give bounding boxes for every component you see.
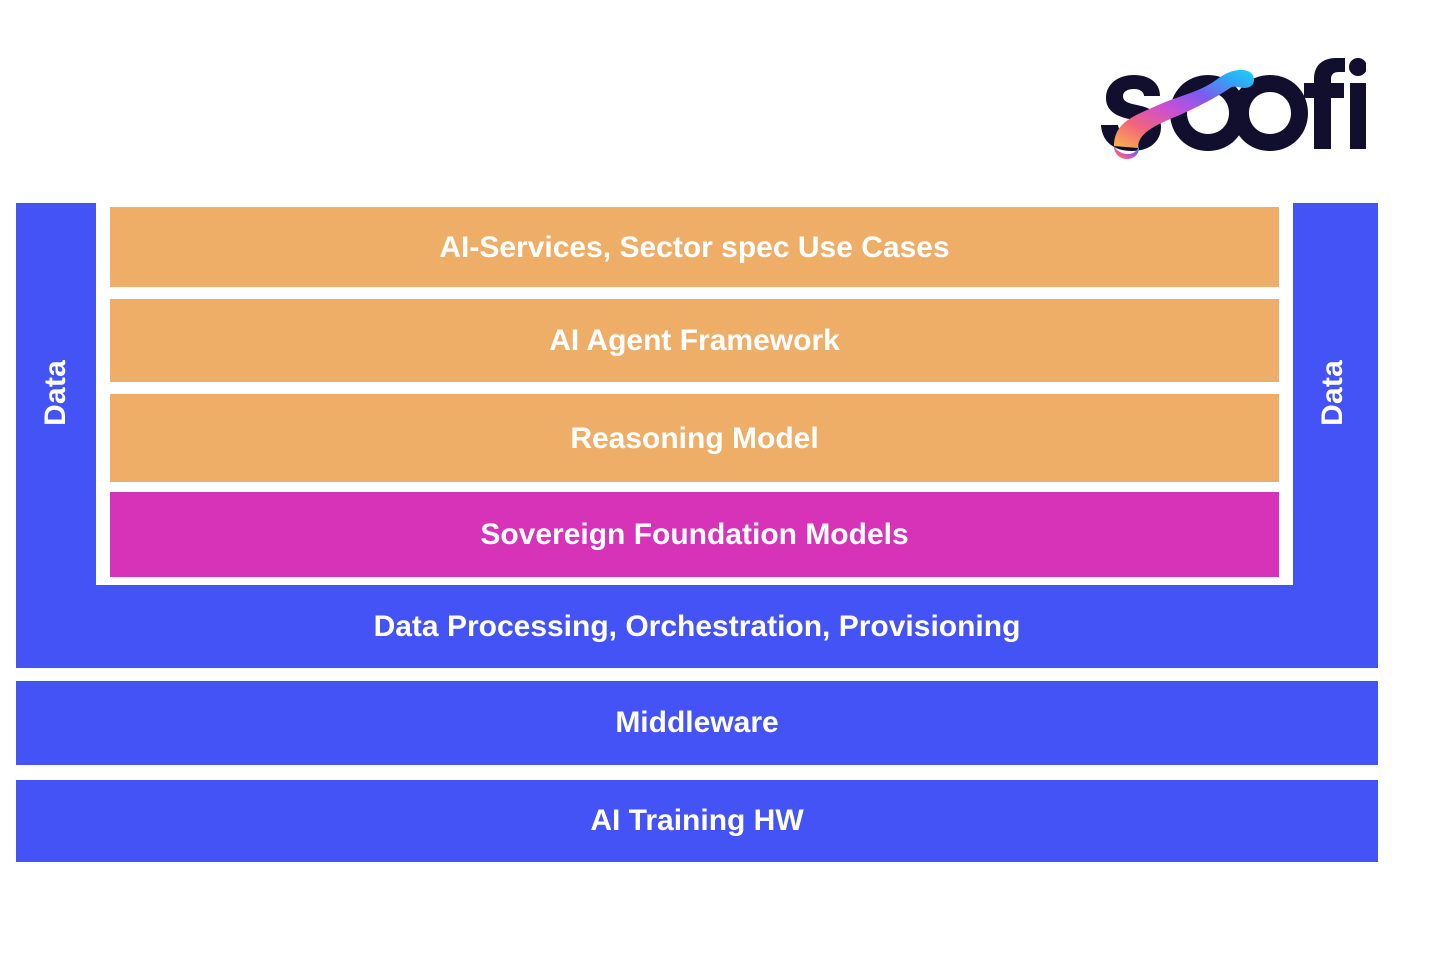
- base-label-middleware: Middleware: [615, 706, 778, 740]
- logo-letter-i-stem: [1350, 83, 1366, 149]
- layer-bar-ai-services[interactable]: AI-Services, Sector spec Use Cases: [110, 207, 1279, 287]
- layer-bar-reasoning-model[interactable]: Reasoning Model: [110, 394, 1279, 482]
- platform-caption: Data Processing, Orchestration, Provisio…: [16, 585, 1378, 668]
- layer-bar-ai-agent-framework[interactable]: AI Agent Framework: [110, 299, 1279, 382]
- data-rail-left: Data: [16, 203, 96, 582]
- data-rail-left-label: Data: [39, 360, 73, 426]
- layer-label-reasoning-model: Reasoning Model: [570, 422, 818, 455]
- data-rail-right-label: Data: [1316, 360, 1350, 426]
- layer-panel: AI-Services, Sector spec Use Cases AI Ag…: [96, 203, 1293, 585]
- base-label-ai-training-hw: AI Training HW: [590, 804, 803, 838]
- base-bar-ai-training-hw[interactable]: AI Training HW: [16, 780, 1378, 862]
- layer-label-sovereign-foundation-models: Sovereign Foundation Models: [480, 518, 908, 551]
- logo-letter-i-dot: [1349, 58, 1366, 76]
- base-bar-middleware[interactable]: Middleware: [16, 681, 1378, 765]
- data-rail-right: Data: [1293, 203, 1373, 582]
- soofi-logo: [1098, 58, 1366, 164]
- platform-caption-label: Data Processing, Orchestration, Provisio…: [374, 610, 1021, 644]
- platform-container: Data Data AI-Services, Sector spec Use C…: [16, 203, 1378, 668]
- logo-letter-f: [1304, 58, 1345, 149]
- diagram-canvas: Data Data AI-Services, Sector spec Use C…: [0, 0, 1440, 960]
- layer-bar-sovereign-foundation-models[interactable]: Sovereign Foundation Models: [110, 492, 1279, 577]
- layer-label-ai-agent-framework: AI Agent Framework: [549, 324, 840, 357]
- layer-label-ai-services: AI-Services, Sector spec Use Cases: [439, 231, 949, 264]
